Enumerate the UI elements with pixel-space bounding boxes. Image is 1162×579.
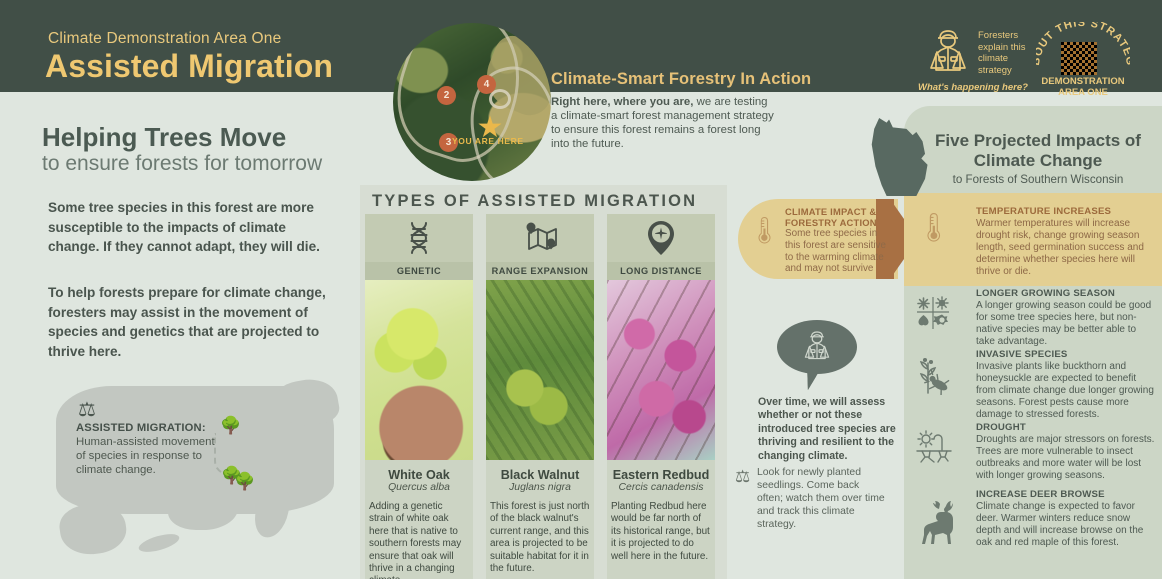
type-card-range-expansion[interactable]: RANGE EXPANSION Black Walnut Juglans nig… <box>486 214 594 575</box>
us-hawaii-shape <box>137 530 181 555</box>
qr-caption: DEMONSTRATION AREA ONE <box>1028 76 1138 98</box>
impact-0-heading: TEMPERATURE INCREASES <box>976 206 1156 217</box>
header-intro-bold: Right here, where you are, <box>551 96 693 108</box>
dna-icon <box>365 214 473 262</box>
look-for-seedlings-text: Look for newly planted seedlings. Come b… <box>757 466 887 531</box>
invasive-plant-beetle-icon <box>916 357 952 402</box>
sun-dry-ground-icon <box>916 430 952 473</box>
impact-invasive-species: INVASIVE SPECIES Invasive plants like bu… <box>976 349 1156 421</box>
deer-icon <box>916 500 960 556</box>
aerial-map-photo: 2 3 4 ★ YOU ARE HERE <box>393 23 551 181</box>
type-card-long-distance-desc: Planting Redbud here would be far north … <box>611 501 711 563</box>
eastern-redbud-photo <box>607 280 715 460</box>
projected-impacts-subtitle: to Forests of Southern Wisconsin <box>918 173 1158 186</box>
thermometer-sun-icon: 🌡 <box>748 215 781 246</box>
forester-icon <box>797 330 837 364</box>
infographic-poster: Climate Demonstration Area One Assisted … <box>0 0 1162 579</box>
you-are-here-label: YOU ARE HERE <box>452 136 524 146</box>
speech-bubble <box>777 320 857 374</box>
lead-headline: Helping Trees Move <box>42 122 286 153</box>
planting-person-icon: ⚖ <box>78 397 96 422</box>
assisted-migration-text: Human-assisted movement of species in re… <box>76 435 226 477</box>
us-texas-shape <box>168 486 238 530</box>
type-card-long-distance-label: LONG DISTANCE <box>607 262 715 280</box>
aerial-marker-2: 2 <box>437 86 456 105</box>
type-card-genetic-desc: Adding a genetic strain of white oak her… <box>369 501 469 579</box>
impact-4-body: Climate change is expected to favor deer… <box>976 501 1156 549</box>
forester-badge-lines: Foresters explain this climate strategy <box>978 30 1030 76</box>
type-card-range-expansion-desc: This forest is just north of the black w… <box>490 501 590 575</box>
types-heading: TYPES OF ASSISTED MIGRATION <box>372 192 697 211</box>
header-kicker: Climate Demonstration Area One <box>48 30 281 48</box>
planting-person-icon: ⚖ <box>735 467 750 487</box>
impact-increase-deer-browse: INCREASE DEER BROWSE Climate change is e… <box>976 489 1156 549</box>
speech-bubble-tail <box>805 368 821 390</box>
qr-strategy-block[interactable]: ABOUT THIS STRATEGY DEMONSTRATION AREA O… <box>1028 22 1138 88</box>
airplane-pin-icon <box>607 214 715 262</box>
migration-tree-south-b-icon: 🌳 <box>234 472 255 492</box>
over-time-text: Over time, we will assess whether or not… <box>758 396 908 463</box>
impact-3-body: Droughts are major stressors on forests.… <box>976 434 1156 482</box>
type-card-long-distance-name: Eastern Redbud <box>607 468 715 482</box>
header-subtitle: Climate-Smart Forestry In Action <box>551 70 811 89</box>
impact-0-body: Warmer temperatures will increase drough… <box>976 218 1156 278</box>
left-paragraph-1: Some tree species in this forest are mor… <box>48 198 328 257</box>
impact-3-heading: DROUGHT <box>976 422 1156 433</box>
impact-1-body: A longer growing season could be good fo… <box>976 300 1156 348</box>
impact-drought: DROUGHT Droughts are major stressors on … <box>976 422 1156 482</box>
climate-impact-title: CLIMATE IMPACT & FORESTRY ACTION <box>785 206 889 228</box>
impact-2-heading: INVASIVE SPECIES <box>976 349 1156 360</box>
climate-impact-text: Some tree species in this forest are sen… <box>785 228 891 275</box>
map-pin-icon <box>486 214 594 262</box>
lead-subheadline: to ensure forests for tomorrow <box>42 152 322 176</box>
page-title: Assisted Migration <box>45 48 333 85</box>
impact-4-heading: INCREASE DEER BROWSE <box>976 489 1156 500</box>
type-card-genetic-label: GENETIC <box>365 262 473 280</box>
impact-2-body: Invasive plants like buckthorn and honey… <box>976 361 1156 421</box>
type-card-range-expansion-latin: Juglans nigra <box>486 482 594 493</box>
qr-code-icon[interactable] <box>1061 42 1097 75</box>
migration-tree-north-icon: 🌳 <box>220 416 241 436</box>
impact-temperature-increases: TEMPERATURE INCREASES Warmer temperature… <box>976 206 1156 278</box>
header-intro-text: Right here, where you are, we are testin… <box>551 95 775 151</box>
type-card-genetic-latin: Quercus alba <box>365 482 473 493</box>
type-card-long-distance-latin: Cercis canadensis <box>607 482 715 493</box>
forester-icon <box>920 28 976 78</box>
type-card-range-expansion-name: Black Walnut <box>486 468 594 482</box>
aerial-marker-4: 4 <box>477 75 496 94</box>
us-map-graphic: ⚖ 🌳 🌳 🌳 ASSISTED MIGRATION: Human-assist… <box>38 378 348 578</box>
type-card-genetic-name: White Oak <box>365 468 473 482</box>
type-card-genetic[interactable]: GENETIC White Oak Quercus alba Adding a … <box>365 214 473 579</box>
forester-badge-caption: What's happening here? <box>918 82 1028 93</box>
left-paragraph-2: To help forests prepare for climate chan… <box>48 283 338 361</box>
impact-longer-growing-season: LONGER GROWING SEASON A longer growing s… <box>976 288 1156 348</box>
white-oak-photo <box>365 280 473 460</box>
assisted-migration-title: ASSISTED MIGRATION: <box>76 422 206 434</box>
thermometer-sun-icon: 🌡 <box>916 211 952 244</box>
forester-badge[interactable]: Foresters explain this climate strategy … <box>920 28 976 83</box>
projected-impacts-title: Five Projected Impacts of Climate Change <box>918 131 1158 171</box>
type-card-range-expansion-label: RANGE EXPANSION <box>486 262 594 280</box>
four-seasons-icon <box>916 296 950 337</box>
impact-1-heading: LONGER GROWING SEASON <box>976 288 1156 299</box>
type-card-long-distance[interactable]: LONG DISTANCE Eastern Redbud Cercis cana… <box>607 214 715 563</box>
black-walnut-photo <box>486 280 594 460</box>
